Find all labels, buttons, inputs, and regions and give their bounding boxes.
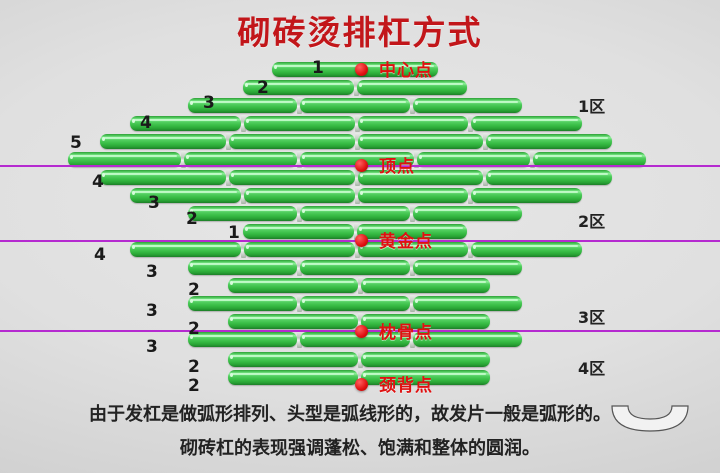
row-number: 1 xyxy=(228,223,240,243)
reference-point-label: 顶点 xyxy=(379,152,415,177)
hair-roller xyxy=(243,224,354,239)
row-number: 5 xyxy=(70,133,82,153)
hair-roller xyxy=(486,134,612,149)
hair-roller xyxy=(300,98,409,113)
zone-label: 1区 xyxy=(578,93,605,117)
row-number: 1 xyxy=(312,58,324,78)
roller-row xyxy=(228,278,490,293)
row-number: 4 xyxy=(140,113,152,133)
hair-roller xyxy=(229,170,355,185)
row-number: 2 xyxy=(188,357,200,377)
hair-roller xyxy=(130,188,241,203)
reference-point-label: 黄金点 xyxy=(379,227,433,252)
hair-roller xyxy=(300,260,409,275)
roller-row xyxy=(100,134,612,149)
roller-row xyxy=(130,116,582,131)
reference-point-dot xyxy=(355,159,368,172)
reference-point-dot xyxy=(355,234,368,247)
row-number: 2 xyxy=(188,319,200,339)
reference-point-label: 中心点 xyxy=(379,56,433,81)
hair-roller xyxy=(100,134,226,149)
reference-point-dot xyxy=(355,63,368,76)
hair-roller xyxy=(361,278,491,293)
diagram-canvas: 砌砖烫排杠方式 12345432143232322 1区2区3区4区 中心点顶点… xyxy=(0,0,720,473)
hair-roller xyxy=(471,188,582,203)
row-number: 3 xyxy=(203,93,215,113)
hair-roller xyxy=(188,260,297,275)
reference-point-dot xyxy=(355,325,368,338)
hair-roller xyxy=(244,116,355,131)
row-number: 3 xyxy=(146,262,158,282)
zone-label: 3区 xyxy=(578,304,605,328)
reference-point-label: 枕骨点 xyxy=(379,318,433,343)
hair-roller xyxy=(358,170,484,185)
row-number: 4 xyxy=(94,245,106,265)
hair-roller xyxy=(229,134,355,149)
hair-roller xyxy=(188,296,297,311)
hair-roller xyxy=(228,370,358,385)
roller-row xyxy=(188,98,522,113)
hair-roller xyxy=(244,242,355,257)
roller-row xyxy=(228,352,490,367)
hair-roller xyxy=(413,98,522,113)
roller-row xyxy=(188,206,522,221)
row-number: 3 xyxy=(148,193,160,213)
hair-roller xyxy=(358,116,469,131)
roller-row xyxy=(100,170,612,185)
hair-roller xyxy=(244,188,355,203)
row-number: 4 xyxy=(92,172,104,192)
hair-roller xyxy=(413,260,522,275)
hair-roller xyxy=(471,242,582,257)
hair-roller xyxy=(486,170,612,185)
hair-roller xyxy=(228,314,358,329)
row-number: 2 xyxy=(188,280,200,300)
hair-roller xyxy=(413,206,522,221)
row-number: 3 xyxy=(146,301,158,321)
reference-point-label: 颈背点 xyxy=(379,371,433,396)
hair-roller xyxy=(357,80,468,95)
hair-roller xyxy=(358,188,469,203)
hair-roller xyxy=(300,206,409,221)
hair-roller xyxy=(361,352,491,367)
crescent-icon xyxy=(608,402,692,432)
page-title: 砌砖烫排杠方式 xyxy=(0,6,720,54)
row-number: 3 xyxy=(146,337,158,357)
zone-label: 2区 xyxy=(578,208,605,232)
row-number: 2 xyxy=(257,78,269,98)
row-number: 2 xyxy=(186,209,198,229)
hair-roller xyxy=(228,278,358,293)
hair-roller xyxy=(413,296,522,311)
caption-line-1: 由于发杠是做弧形排列、头型是弧线形的，故发片一般是弧形的。 xyxy=(0,400,700,426)
zone-label: 4区 xyxy=(578,355,605,379)
row-number: 2 xyxy=(188,376,200,396)
caption-line-2: 砌砖杠的表现强调蓬松、饱满和整体的圆润。 xyxy=(0,434,720,460)
hair-roller xyxy=(471,116,582,131)
hair-roller xyxy=(300,296,409,311)
hair-roller xyxy=(228,352,358,367)
hair-roller xyxy=(188,206,297,221)
roller-row xyxy=(130,188,582,203)
roller-row xyxy=(188,260,522,275)
hair-roller xyxy=(358,134,484,149)
reference-point-dot xyxy=(355,378,368,391)
roller-row xyxy=(243,80,467,95)
hair-roller xyxy=(130,242,241,257)
hair-roller xyxy=(188,332,297,347)
hair-roller xyxy=(100,170,226,185)
roller-row xyxy=(188,296,522,311)
